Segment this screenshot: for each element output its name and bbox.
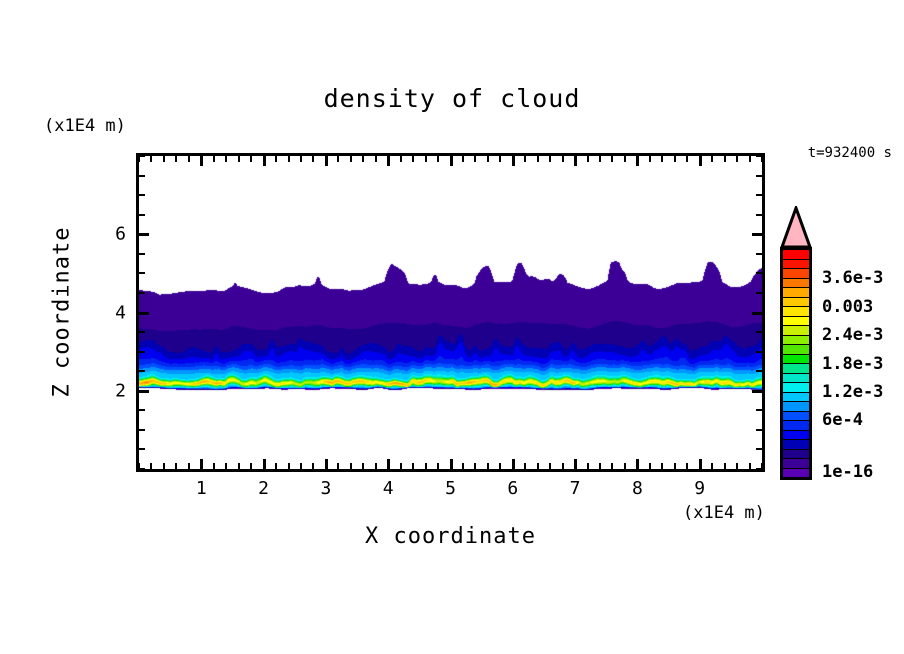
x-minor-tick	[225, 463, 227, 469]
colorbar-segment	[783, 307, 809, 317]
y-tick-label: 2	[100, 380, 126, 401]
x-tick-top	[587, 156, 589, 162]
x-tick-top	[213, 156, 215, 162]
y-minor-tick	[139, 253, 145, 255]
y-tick-right	[756, 409, 762, 411]
x-tick-top	[312, 156, 314, 162]
x-minor-tick	[175, 463, 177, 469]
x-tick-top	[611, 156, 613, 162]
y-tick-right	[756, 272, 762, 274]
x-minor-tick	[375, 463, 377, 469]
x-minor-tick	[437, 463, 439, 469]
x-major-tick	[450, 459, 453, 469]
x-tick-label: 1	[196, 478, 207, 499]
x-major-tick	[325, 459, 328, 469]
colorbar-segment	[783, 345, 809, 355]
x-minor-tick	[537, 463, 539, 469]
x-tick-top	[512, 156, 515, 166]
y-major-tick	[139, 233, 149, 236]
x-tick-top	[288, 156, 290, 162]
colorbar-tick-label: 6e-4	[822, 410, 863, 430]
colorbar-segment	[783, 374, 809, 384]
colorbar-tick-label: 1e-16	[822, 462, 873, 482]
x-tick-top	[275, 156, 277, 162]
colorbar-segment	[783, 469, 809, 478]
x-tick-top	[175, 156, 177, 162]
y-minor-tick	[139, 409, 145, 411]
x-tick-top	[437, 156, 439, 162]
y-tick-right	[756, 214, 762, 216]
y-tick-label: 6	[100, 224, 126, 245]
x-minor-tick	[674, 463, 676, 469]
x-tick-top	[337, 156, 339, 162]
y-minor-tick	[139, 429, 145, 431]
y-tick-right	[756, 370, 762, 372]
x-minor-tick	[300, 463, 302, 469]
x-minor-tick	[624, 463, 626, 469]
colorbar-segment	[783, 402, 809, 412]
x-tick-top	[749, 156, 751, 162]
x-tick-top	[150, 156, 152, 162]
x-tick-top	[649, 156, 651, 162]
x-major-tick	[512, 459, 515, 469]
x-minor-tick	[661, 463, 663, 469]
timestamp-annotation: t=932400 s	[808, 145, 892, 161]
x-axis-title: X coordinate	[136, 524, 765, 549]
x-tick-top	[225, 156, 227, 162]
colorbar-segment	[783, 336, 809, 346]
x-tick-label: 9	[694, 478, 705, 499]
x-tick-label: 2	[258, 478, 269, 499]
x-minor-tick	[425, 463, 427, 469]
colorbar-segment	[783, 260, 809, 270]
x-tick-top	[736, 156, 738, 162]
y-axis-title: Z coordinate	[50, 227, 75, 398]
y-minor-tick	[139, 448, 145, 450]
x-minor-tick	[462, 463, 464, 469]
x-tick-top	[524, 156, 526, 162]
x-tick-top	[250, 156, 252, 162]
x-minor-tick	[686, 463, 688, 469]
x-tick-top	[711, 156, 713, 162]
x-minor-tick	[524, 463, 526, 469]
x-tick-top	[300, 156, 302, 162]
x-tick-top	[325, 156, 328, 166]
y-minor-tick	[139, 351, 145, 353]
x-minor-tick	[587, 463, 589, 469]
x-minor-tick	[611, 463, 613, 469]
chart-title: density of cloud	[0, 84, 904, 113]
y-major-tick	[139, 390, 149, 393]
x-minor-tick	[250, 463, 252, 469]
colorbar-tick-label: 0.003	[822, 297, 873, 317]
colorbar	[779, 206, 813, 480]
y-tick-right	[756, 155, 762, 157]
x-tick-label: 6	[507, 478, 518, 499]
x-minor-tick	[474, 463, 476, 469]
x-tick-top	[263, 156, 266, 166]
y-tick-right	[756, 175, 762, 177]
y-tick-right	[756, 194, 762, 196]
x-tick-top	[599, 156, 601, 162]
x-axis-unit-label: (x1E4 m)	[683, 503, 765, 523]
colorbar-segment	[783, 412, 809, 422]
x-tick-top	[412, 156, 414, 162]
x-tick-top	[350, 156, 352, 162]
y-tick-right	[756, 253, 762, 255]
x-tick-top	[362, 156, 364, 162]
x-minor-tick	[499, 463, 501, 469]
y-minor-tick	[139, 292, 145, 294]
x-tick-label: 5	[445, 478, 456, 499]
y-tick-right	[756, 292, 762, 294]
colorbar-segment	[783, 326, 809, 336]
colorbar-segment	[783, 250, 809, 260]
x-tick-top	[400, 156, 402, 162]
x-minor-tick	[724, 463, 726, 469]
x-tick-top	[674, 156, 676, 162]
x-tick-top	[499, 156, 501, 162]
colorbar-tick-label: 1.2e-3	[822, 382, 883, 402]
colorbar-segment	[783, 431, 809, 441]
x-minor-tick	[362, 463, 364, 469]
x-major-tick	[636, 459, 639, 469]
x-tick-top	[425, 156, 427, 162]
figure-root: density of cloud (x1E4 m) t=932400 s 123…	[0, 0, 904, 654]
x-major-tick	[387, 459, 390, 469]
x-major-tick	[699, 459, 702, 469]
x-minor-tick	[312, 463, 314, 469]
x-tick-top	[163, 156, 165, 162]
y-tick-label: 4	[100, 302, 126, 323]
x-minor-tick	[711, 463, 713, 469]
colorbar-segment	[783, 355, 809, 365]
x-minor-tick	[288, 463, 290, 469]
colorbar-segment	[783, 421, 809, 431]
colorbar-segment	[783, 364, 809, 374]
colorbar-segment	[783, 298, 809, 308]
x-minor-tick	[649, 463, 651, 469]
x-tick-label: 3	[320, 478, 331, 499]
y-tick-right	[756, 448, 762, 450]
y-tick-right	[756, 331, 762, 333]
x-minor-tick	[599, 463, 601, 469]
y-minor-tick	[139, 370, 145, 372]
colorbar-tick-label: 3.6e-3	[822, 268, 883, 288]
x-minor-tick	[188, 463, 190, 469]
colorbar-tick-label: 1.8e-3	[822, 354, 883, 374]
colorbar-segment	[783, 459, 809, 469]
y-tick-right	[752, 390, 762, 393]
x-major-tick	[263, 459, 266, 469]
x-minor-tick	[487, 463, 489, 469]
x-tick-top	[200, 156, 203, 166]
colorbar-segment	[783, 317, 809, 327]
plot-area	[136, 153, 765, 472]
x-tick-top	[387, 156, 390, 166]
x-tick-top	[375, 156, 377, 162]
x-minor-tick	[736, 463, 738, 469]
x-minor-tick	[400, 463, 402, 469]
x-minor-tick	[238, 463, 240, 469]
y-minor-tick	[139, 272, 145, 274]
x-tick-top	[636, 156, 639, 166]
y-minor-tick	[139, 214, 145, 216]
x-tick-label: 4	[383, 478, 394, 499]
x-tick-label: 8	[632, 478, 643, 499]
y-tick-right	[756, 429, 762, 431]
x-tick-top	[474, 156, 476, 162]
y-minor-tick	[139, 194, 145, 196]
x-minor-tick	[150, 463, 152, 469]
y-minor-tick	[139, 175, 145, 177]
colorbar-segment	[783, 288, 809, 298]
y-tick-right	[756, 468, 762, 470]
x-tick-top	[699, 156, 702, 166]
colorbar-segment	[783, 440, 809, 450]
y-minor-tick	[139, 468, 145, 470]
x-major-tick	[574, 459, 577, 469]
y-major-tick	[139, 312, 149, 315]
colorbar-over-arrow-icon	[779, 206, 813, 248]
x-tick-top	[686, 156, 688, 162]
x-tick-top	[562, 156, 564, 162]
x-tick-top	[574, 156, 577, 166]
colorbar-segment	[783, 279, 809, 289]
y-tick-right	[756, 351, 762, 353]
x-tick-top	[487, 156, 489, 162]
x-minor-tick	[163, 463, 165, 469]
y-minor-tick	[139, 331, 145, 333]
x-minor-tick	[549, 463, 551, 469]
x-minor-tick	[562, 463, 564, 469]
y-tick-right	[752, 312, 762, 315]
x-minor-tick	[213, 463, 215, 469]
colorbar-tick-label: 2.4e-3	[822, 325, 883, 345]
y-axis-unit-label: (x1E4 m)	[44, 116, 126, 136]
x-minor-tick	[337, 463, 339, 469]
x-minor-tick	[412, 463, 414, 469]
x-tick-top	[238, 156, 240, 162]
x-tick-label: 7	[570, 478, 581, 499]
x-tick-top	[450, 156, 453, 166]
colorbar-segment	[783, 269, 809, 279]
contour-canvas	[139, 156, 762, 469]
x-tick-top	[661, 156, 663, 162]
x-tick-top	[188, 156, 190, 162]
x-tick-top	[549, 156, 551, 162]
colorbar-segment	[783, 450, 809, 460]
x-tick-top	[624, 156, 626, 162]
colorbar-segment	[783, 393, 809, 403]
y-tick-right	[752, 233, 762, 236]
colorbar-segment	[783, 383, 809, 393]
x-major-tick	[200, 459, 203, 469]
x-minor-tick	[275, 463, 277, 469]
x-tick-top	[724, 156, 726, 162]
x-tick-top	[537, 156, 539, 162]
colorbar-gradient	[780, 247, 812, 480]
y-minor-tick	[139, 155, 145, 157]
x-tick-top	[462, 156, 464, 162]
x-minor-tick	[350, 463, 352, 469]
x-minor-tick	[749, 463, 751, 469]
